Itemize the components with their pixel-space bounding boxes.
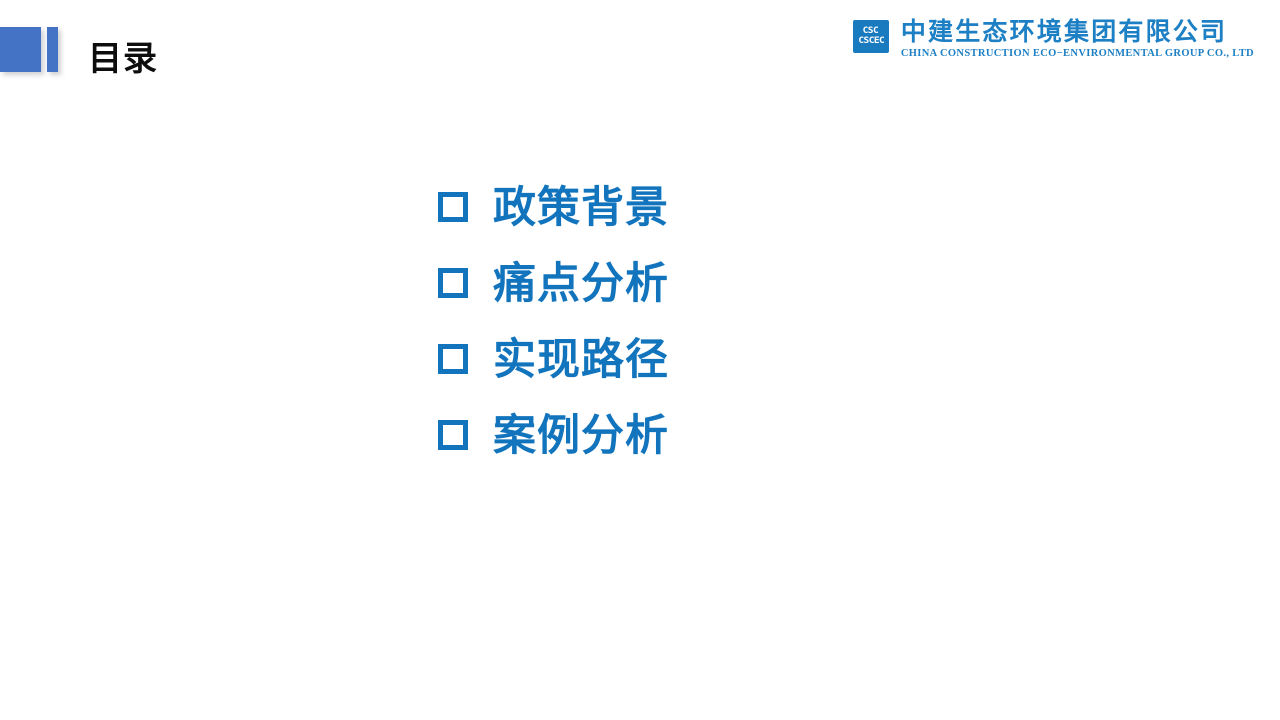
decoration-bar-icon (47, 27, 58, 72)
agenda-item-1[interactable]: 政策背景 (438, 170, 898, 246)
cscec-logo-mark-icon: CSC CSCEC (853, 20, 889, 53)
agenda-list: 政策背景 痛点分析 实现路径 案例分析 (438, 170, 898, 474)
company-logo: CSC CSCEC 中建生态环境集团有限公司 CHINA CONSTRUCTIO… (853, 18, 1254, 60)
agenda-item-label: 案例分析 (493, 411, 669, 461)
company-name-chinese: 中建生态环境集团有限公司 (901, 18, 1227, 45)
company-logo-text: 中建生态环境集团有限公司 CHINA CONSTRUCTION ECO−ENVI… (901, 18, 1254, 60)
hollow-square-bullet-icon (438, 344, 468, 374)
agenda-item-4[interactable]: 案例分析 (438, 398, 898, 474)
hollow-square-bullet-icon (438, 420, 468, 450)
agenda-item-3[interactable]: 实现路径 (438, 322, 898, 398)
agenda-item-label: 痛点分析 (493, 259, 669, 309)
logo-mark-line-1: CSC (863, 27, 879, 36)
logo-mark-line-2: CSCEC (858, 37, 884, 46)
hollow-square-bullet-icon (438, 192, 468, 222)
agenda-item-label: 政策背景 (493, 183, 669, 233)
presentation-slide: 目录 CSC CSCEC 中建生态环境集团有限公司 CHINA CONSTRUC… (0, 0, 1280, 720)
company-name-english: CHINA CONSTRUCTION ECO−ENVIRONMENTAL GRO… (901, 48, 1254, 60)
hollow-square-bullet-icon (438, 268, 468, 298)
agenda-item-2[interactable]: 痛点分析 (438, 246, 898, 322)
decoration-square-icon (0, 27, 41, 72)
page-title: 目录 (88, 38, 158, 80)
agenda-item-label: 实现路径 (493, 335, 669, 385)
slide-header: 目录 CSC CSCEC 中建生态环境集团有限公司 CHINA CONSTRUC… (0, 0, 1280, 92)
